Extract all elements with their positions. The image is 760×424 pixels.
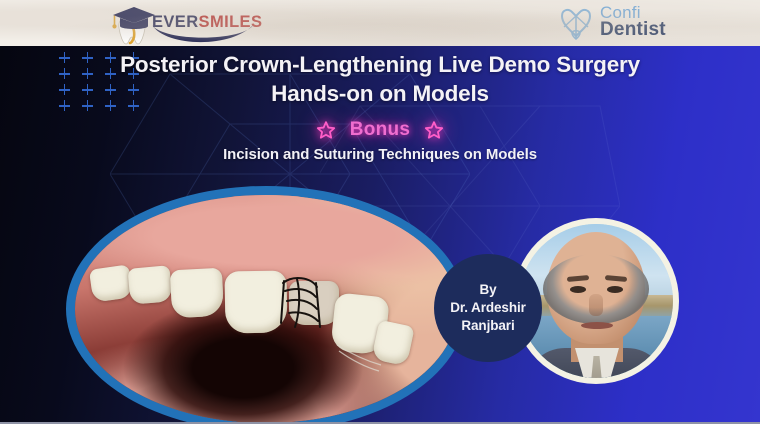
page-title: Posterior Crown-Lengthening Live Demo Su… xyxy=(0,51,760,109)
author-badge: By Dr. Ardeshir Ranjbari xyxy=(434,254,542,362)
portrait-eye-left xyxy=(570,286,586,293)
author-badge-text: By Dr. Ardeshir Ranjbari xyxy=(450,281,526,335)
bonus-row: Bonus xyxy=(0,119,760,141)
page-subtitle: Incision and Suturing Techniques on Mode… xyxy=(0,146,760,163)
banner-body: Posterior Crown-Lengthening Live Demo Su… xyxy=(0,46,760,422)
page-title-line1: Posterior Crown-Lengthening Live Demo Su… xyxy=(120,52,640,77)
star-outline-icon xyxy=(424,120,444,140)
author-prefix: By xyxy=(450,281,526,299)
confidentist-wordmark: Confi Dentist xyxy=(600,5,666,39)
bonus-label: Bonus xyxy=(350,119,411,141)
intraoral-photo-image xyxy=(75,195,457,422)
promo-banner: EVERSMILES Confi Dentist xyxy=(0,0,760,424)
author-name-line2: Ranjbari xyxy=(450,317,526,335)
eversmiles-word-smiles: SMILES xyxy=(199,13,263,31)
eversmiles-wordmark: EVERSMILES xyxy=(152,14,262,31)
author-name-line1: Dr. Ardeshir xyxy=(450,299,526,317)
intraoral-clinical-photo xyxy=(66,186,466,422)
portrait-mouth xyxy=(581,322,613,329)
heart-tooth-icon xyxy=(556,3,596,43)
portrait-eye-right xyxy=(607,286,623,293)
eversmiles-word-ever: EVER xyxy=(152,13,199,31)
confidentist-word-dentist: Dentist xyxy=(600,21,666,39)
star-outline-icon xyxy=(316,120,336,140)
suture-threads xyxy=(75,195,457,422)
author-portrait-image xyxy=(519,224,673,378)
header-band: EVERSMILES Confi Dentist xyxy=(0,0,760,46)
page-title-line2: Hands-on on Models xyxy=(0,80,760,109)
eversmiles-logo[interactable]: EVERSMILES xyxy=(104,1,274,46)
portrait-nose xyxy=(589,294,603,316)
confidentist-logo[interactable]: Confi Dentist xyxy=(556,3,706,45)
